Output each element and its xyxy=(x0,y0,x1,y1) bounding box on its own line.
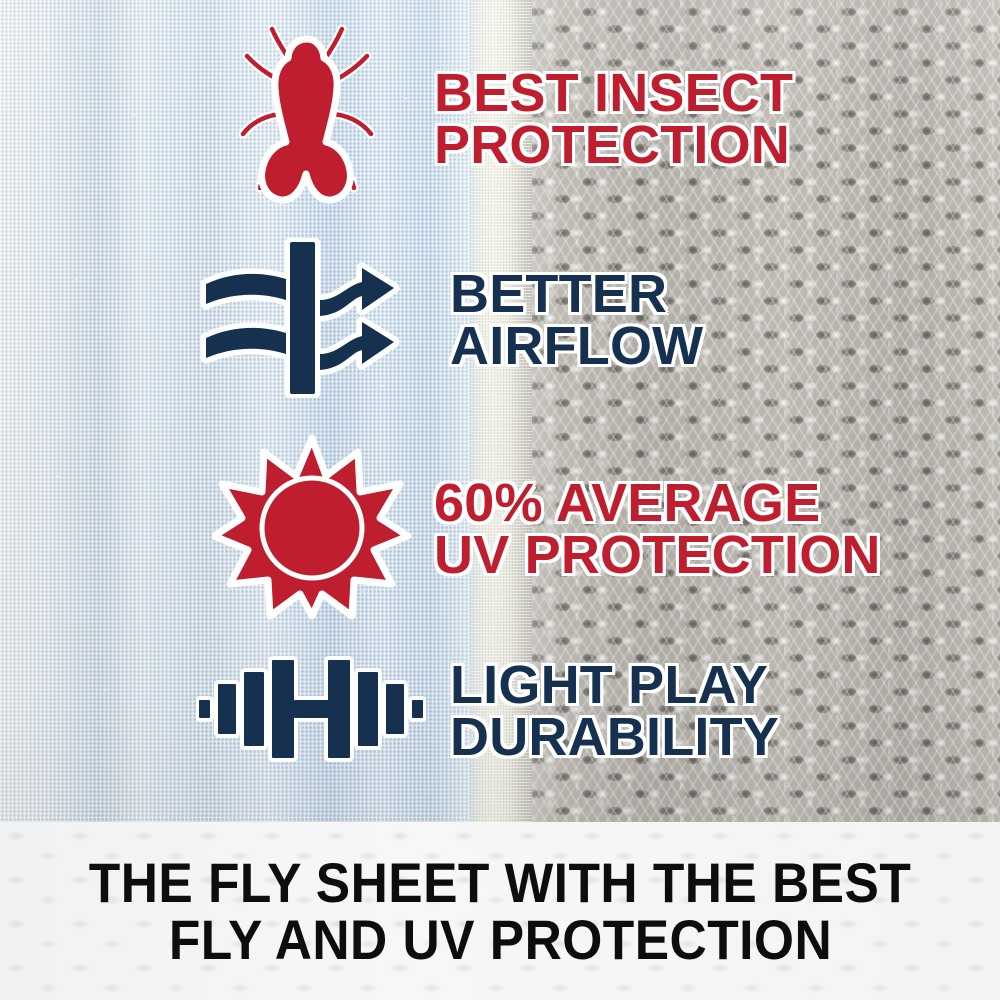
feature-airflow-label: BETTER AIRFLOW xyxy=(450,269,703,373)
feature-insect-line-1: BEST INSECT xyxy=(434,68,793,120)
feature-airflow-line-2: AIRFLOW xyxy=(450,321,703,373)
bottom-banner: THE FLY SHEET WITH THE BEST FLY AND UV P… xyxy=(0,822,1000,1000)
feature-uv-label: 60% AVERAGE UV PROTECTION xyxy=(434,478,881,582)
feature-uv-protection: 60% AVERAGE UV PROTECTION xyxy=(212,432,881,627)
feature-uv-line-1: 60% AVERAGE xyxy=(434,478,881,530)
feature-better-airflow: BETTER AIRFLOW xyxy=(198,238,703,403)
banner-line-1: THE FLY SHEET WITH THE BEST xyxy=(89,854,912,911)
feature-uv-line-2: UV PROTECTION xyxy=(434,530,881,582)
fly-icon xyxy=(232,22,382,217)
feature-durability: LIGHT PLAY DURABILITY xyxy=(196,654,779,769)
dumbbell-icon xyxy=(196,654,426,769)
feature-durability-line-1: LIGHT PLAY xyxy=(450,660,779,712)
feature-insect-label: BEST INSECT PROTECTION xyxy=(434,68,793,172)
banner-line-2: FLY AND UV PROTECTION xyxy=(168,911,831,968)
feature-insect-protection: BEST INSECT PROTECTION xyxy=(232,22,793,217)
sun-icon xyxy=(212,432,412,627)
feature-durability-label: LIGHT PLAY DURABILITY xyxy=(450,660,779,764)
product-feature-poster: BEST INSECT PROTECTION xyxy=(0,0,1000,1000)
feature-durability-line-2: DURABILITY xyxy=(450,712,779,764)
feature-insect-line-2: PROTECTION xyxy=(434,120,793,172)
airflow-icon xyxy=(198,238,408,403)
feature-airflow-line-1: BETTER xyxy=(450,269,703,321)
